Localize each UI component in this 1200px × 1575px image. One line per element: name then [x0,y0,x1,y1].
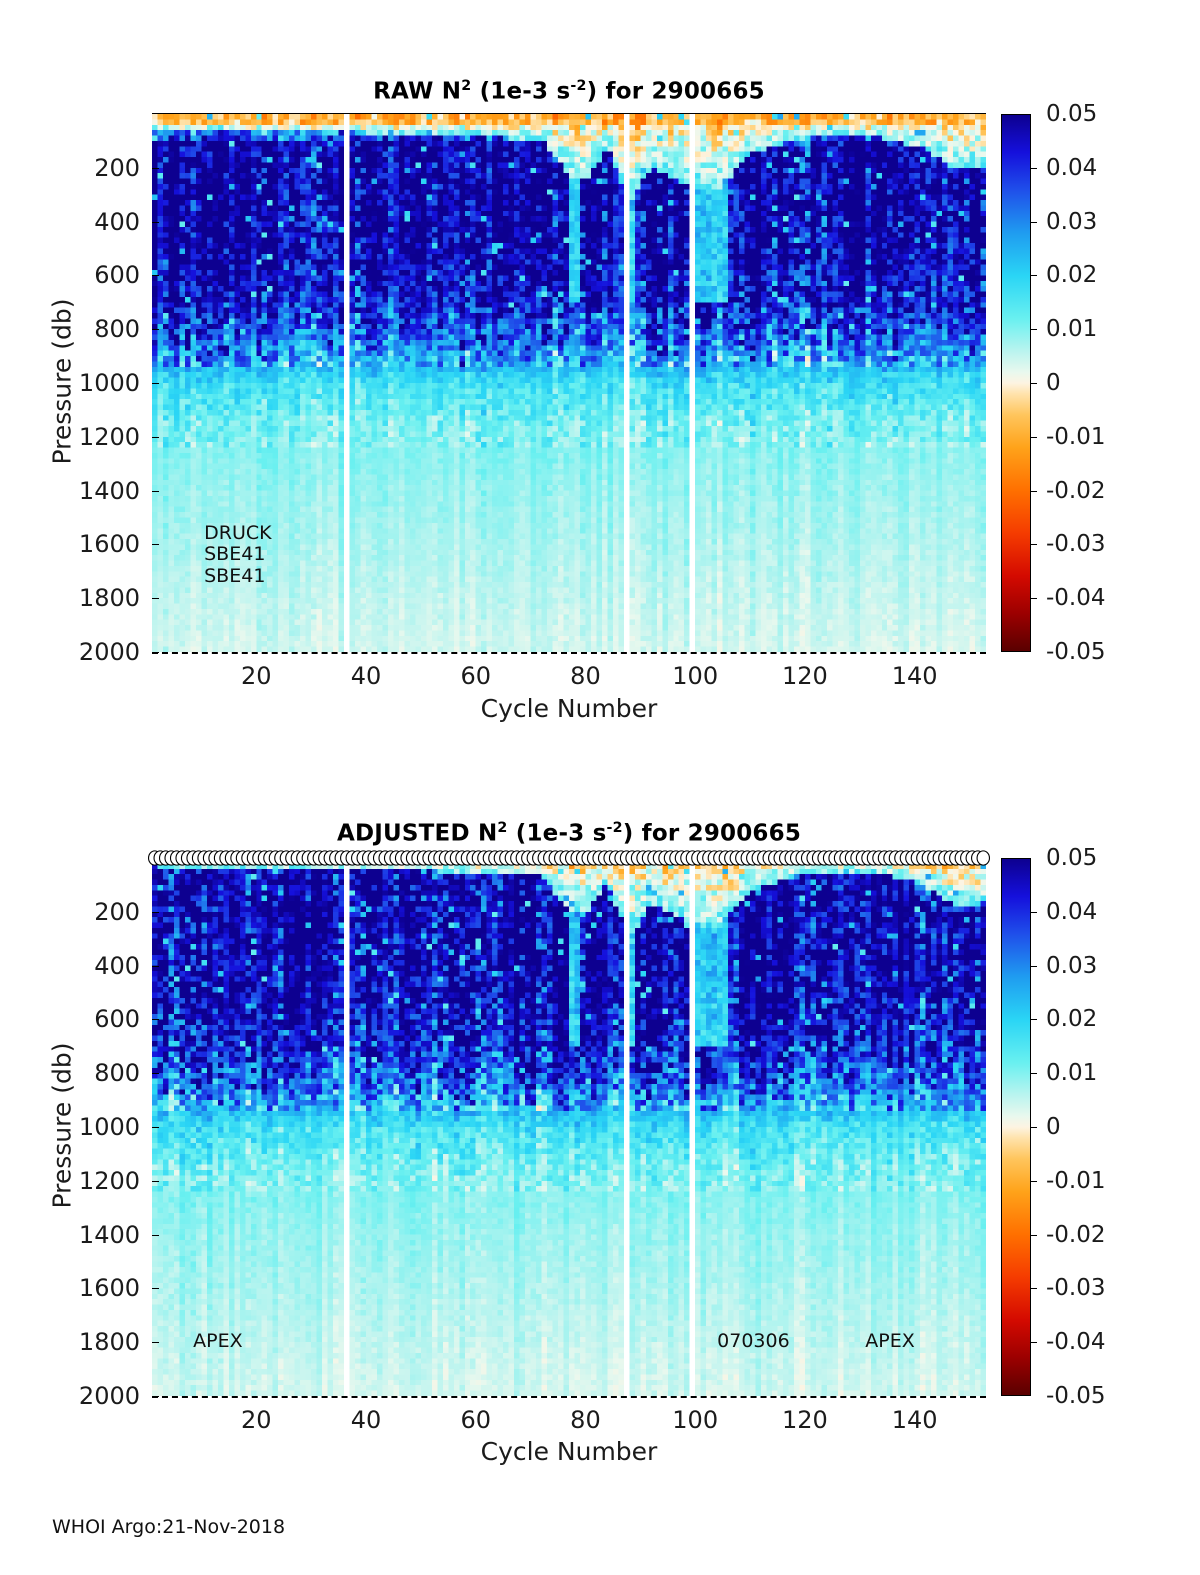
panel-raw-top-spine [152,113,986,114]
colorbar-tick-mark-6 [1031,1181,1037,1182]
colorbar-tick-mark-4 [1031,329,1037,330]
colorbar-tick-label-1: 0.04 [1046,155,1097,181]
colorbar-tick-label-4: 0.01 [1046,1060,1097,1086]
panel-adjusted-xlabel: Cycle Number [152,1437,986,1466]
colorbar-tick-label-3: 0.02 [1046,262,1097,288]
ytick-mark-200 [152,168,159,169]
xtick-label-80: 80 [570,1406,601,1434]
ytick-label-1000: 1000 [2,1113,140,1141]
ytick-mark-1000 [152,383,159,384]
ytick-label-1400: 1400 [2,477,140,505]
panel-adjusted-bottom-spine [152,1396,986,1398]
xtick-label-40: 40 [351,662,382,690]
ytick-mark-1200 [152,437,159,438]
ytick-label-1600: 1600 [2,530,140,558]
xtick-label-140: 140 [892,1406,938,1434]
colorbar-tick-label-3: 0.02 [1046,1006,1097,1032]
ytick-mark-1800 [152,598,159,599]
ytick-label-1800: 1800 [2,584,140,612]
ytick-label-200: 200 [2,154,140,182]
panel-adjusted-colorbar [1001,858,1031,1396]
colorbar-tick-mark-5 [1031,1127,1037,1128]
colorbar-tick-mark-4 [1031,1073,1037,1074]
heatmap-canvas-raw [152,114,986,652]
panel-adjusted-top-spine [152,857,986,858]
colorbar-gradient-adjusted [1002,859,1030,1395]
xtick-label-20: 20 [241,662,272,690]
float-type-right: APEX [865,1330,914,1353]
colorbar-tick-label-10: -0.05 [1046,1383,1106,1409]
ytick-mark-1600 [152,544,159,545]
ytick-label-400: 400 [2,952,140,980]
xtick-label-120: 120 [782,662,828,690]
panel-raw-xlabel: Cycle Number [152,694,986,723]
colorbar-tick-mark-7 [1031,1235,1037,1236]
wmo-date-code: 070306 [717,1330,790,1353]
colorbar-tick-label-4: 0.01 [1046,316,1097,342]
ytick-mark-400 [152,222,159,223]
panel-adjusted-plot-area [152,858,986,1396]
ytick-label-600: 600 [2,1005,140,1033]
sensor-druck: DRUCK [204,522,271,545]
ytick-label-600: 600 [2,261,140,289]
colorbar-gradient-raw [1002,115,1030,651]
colorbar-tick-mark-2 [1031,222,1037,223]
ytick-label-2000: 2000 [2,638,140,666]
sensor-sbe41-b: SBE41 [204,565,265,588]
panel-raw-plot-area [152,114,986,652]
ytick-label-1200: 1200 [2,1167,140,1195]
ytick-mark-2000 [152,652,159,653]
colorbar-tick-label-0: 0.05 [1046,845,1097,871]
ytick-label-200: 200 [2,898,140,926]
panel-raw-bottom-spine [152,652,986,654]
ytick-label-400: 400 [2,208,140,236]
colorbar-tick-label-9: -0.04 [1046,1329,1106,1355]
ytick-mark-400 [152,966,159,967]
ytick-label-1600: 1600 [2,1274,140,1302]
panel-raw-colorbar [1001,114,1031,652]
xtick-label-80: 80 [570,662,601,690]
figure-footer: WHOI Argo:21-Nov-2018 [52,1516,285,1538]
xtick-label-60: 60 [460,1406,491,1434]
colorbar-tick-label-8: -0.03 [1046,531,1106,557]
xtick-label-60: 60 [460,662,491,690]
ytick-mark-1800 [152,1342,159,1343]
colorbar-tick-mark-2 [1031,966,1037,967]
xtick-label-20: 20 [241,1406,272,1434]
xtick-label-40: 40 [351,1406,382,1434]
colorbar-tick-mark-8 [1031,1288,1037,1289]
ytick-label-1000: 1000 [2,369,140,397]
ytick-label-1800: 1800 [2,1328,140,1356]
colorbar-tick-label-7: -0.02 [1046,1222,1106,1248]
panel-adjusted-title: ADJUSTED N2 (1e-3 s-2) for 2900665 [152,820,986,847]
ytick-mark-1000 [152,1127,159,1128]
colorbar-tick-label-6: -0.01 [1046,1168,1106,1194]
colorbar-tick-label-10: -0.05 [1046,639,1106,665]
ytick-mark-600 [152,275,159,276]
colorbar-tick-label-2: 0.03 [1046,209,1097,235]
ytick-mark-600 [152,1019,159,1020]
ytick-label-1400: 1400 [2,1221,140,1249]
xtick-label-100: 100 [672,1406,718,1434]
ytick-label-2000: 2000 [2,1382,140,1410]
ytick-mark-200 [152,912,159,913]
colorbar-tick-mark-7 [1031,491,1037,492]
colorbar-tick-mark-6 [1031,437,1037,438]
ytick-mark-1400 [152,1235,159,1236]
ytick-mark-1600 [152,1288,159,1289]
heatmap-canvas-adjusted [152,858,986,1396]
xtick-label-100: 100 [672,662,718,690]
panel-raw-title: RAW N2 (1e-3 s-2) for 2900665 [152,78,986,105]
colorbar-tick-label-1: 0.04 [1046,899,1097,925]
ytick-mark-2000 [152,1396,159,1397]
sensor-sbe41-a: SBE41 [204,543,265,566]
ytick-mark-800 [152,329,159,330]
colorbar-tick-mark-5 [1031,383,1037,384]
ytick-label-800: 800 [2,315,140,343]
xtick-label-140: 140 [892,662,938,690]
colorbar-tick-mark-3 [1031,275,1037,276]
float-type-left: APEX [193,1330,242,1353]
colorbar-tick-label-5: 0 [1046,1114,1061,1140]
argo-n2-figure: RAW N2 (1e-3 s-2) for 2900665 Pressure (… [0,0,1200,1575]
colorbar-tick-mark-3 [1031,1019,1037,1020]
colorbar-tick-label-2: 0.03 [1046,953,1097,979]
ytick-mark-1400 [152,491,159,492]
ytick-mark-800 [152,1073,159,1074]
colorbar-tick-mark-9 [1031,1342,1037,1343]
colorbar-tick-label-8: -0.03 [1046,1275,1106,1301]
ytick-label-1200: 1200 [2,423,140,451]
colorbar-tick-label-6: -0.01 [1046,424,1106,450]
colorbar-tick-label-9: -0.04 [1046,585,1106,611]
ytick-mark-1200 [152,1181,159,1182]
colorbar-tick-mark-1 [1031,168,1037,169]
colorbar-tick-mark-8 [1031,544,1037,545]
colorbar-tick-label-0: 0.05 [1046,101,1097,127]
ytick-label-800: 800 [2,1059,140,1087]
colorbar-tick-mark-9 [1031,598,1037,599]
xtick-label-120: 120 [782,1406,828,1434]
colorbar-tick-label-5: 0 [1046,370,1061,396]
colorbar-tick-label-7: -0.02 [1046,478,1106,504]
colorbar-tick-mark-1 [1031,912,1037,913]
